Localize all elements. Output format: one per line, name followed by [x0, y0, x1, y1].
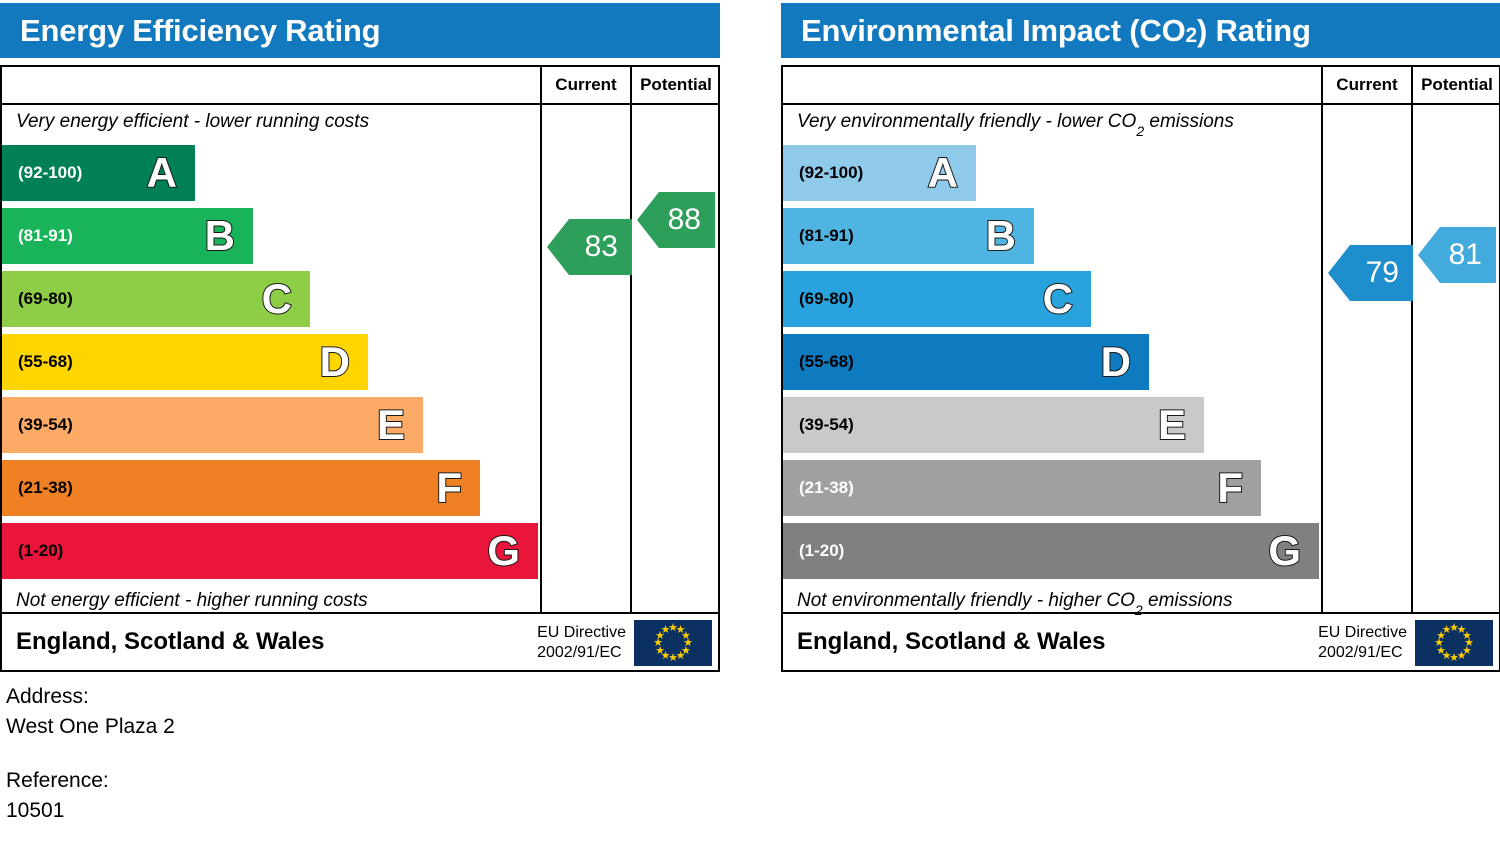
note-text: Not environmentally friendly - higher CO	[797, 590, 1135, 611]
band-letter-B: B	[205, 215, 235, 257]
co2-subscript: 2	[1136, 123, 1144, 139]
band-letter-F: F	[436, 467, 462, 509]
note-not-efficient: Not environmentally friendly - higher CO…	[797, 590, 1232, 614]
eu-directive-line1: EU Directive	[1318, 623, 1407, 643]
band-letter-C: C	[1043, 278, 1073, 320]
band-letter-G: G	[487, 530, 520, 572]
rating-bars: (92-100)A(81-91)B(69-80)C(55-68)D(39-54)…	[2, 145, 540, 589]
band-letter-B: B	[986, 215, 1016, 257]
band-range-D: (55-68)	[18, 352, 73, 372]
chart-footer: England, Scotland & WalesEU Directive200…	[783, 614, 1499, 670]
rating-band-E: (39-54)E	[2, 397, 423, 453]
column-divider-current	[1321, 67, 1323, 612]
note-text-suffix: emissions	[1144, 111, 1234, 132]
chart-title-suffix: ) Rating	[1197, 13, 1311, 49]
band-letter-A: A	[928, 152, 958, 194]
reference-label: Reference:	[6, 766, 175, 796]
eu-directive-text: EU Directive2002/91/EC	[1318, 623, 1407, 663]
band-letter-A: A	[147, 152, 177, 194]
epc-chart-energy-efficiency: Energy Efficiency RatingCurrentPotential…	[0, 0, 720, 672]
band-range-G: (1-20)	[18, 541, 63, 561]
current-rating-arrow: 79	[1328, 245, 1413, 301]
band-range-F: (21-38)	[799, 478, 854, 498]
band-range-B: (81-91)	[18, 226, 73, 246]
band-range-B: (81-91)	[799, 226, 854, 246]
eu-directive-line2: 2002/91/EC	[1318, 643, 1407, 663]
address-value: West One Plaza 2	[6, 712, 175, 742]
column-header-potential: Potential	[1413, 67, 1500, 103]
band-letter-C: C	[262, 278, 292, 320]
column-header-current: Current	[1323, 67, 1411, 103]
rating-table-environmental-impact: CurrentPotentialVery environmentally fri…	[781, 65, 1500, 672]
note-very-efficient: Very environmentally friendly - lower CO…	[797, 111, 1234, 135]
rating-band-B: (81-91)B	[2, 208, 253, 264]
rating-band-C: (69-80)C	[783, 271, 1091, 327]
eu-flag-icon	[1415, 620, 1493, 666]
rating-band-D: (55-68)D	[2, 334, 368, 390]
footer-region-label: England, Scotland & Wales	[797, 628, 1105, 656]
rating-band-B: (81-91)B	[783, 208, 1034, 264]
rating-band-G: (1-20)G	[2, 523, 538, 579]
eu-directive-text: EU Directive2002/91/EC	[537, 623, 626, 663]
column-divider-potential	[630, 67, 632, 612]
band-letter-D: D	[320, 341, 350, 383]
note-text-suffix: emissions	[1143, 590, 1233, 611]
chart-title-energy-efficiency: Energy Efficiency Rating	[0, 3, 720, 58]
band-range-E: (39-54)	[799, 415, 854, 435]
current-rating-arrow: 83	[547, 219, 632, 275]
chart-title-text: Energy Efficiency Rating	[20, 13, 380, 49]
band-range-G: (1-20)	[799, 541, 844, 561]
band-range-C: (69-80)	[18, 289, 73, 309]
column-header-current: Current	[542, 67, 630, 103]
potential-rating-arrow: 81	[1418, 227, 1496, 283]
band-range-D: (55-68)	[799, 352, 854, 372]
chart-title-text: Environmental Impact (CO	[801, 13, 1186, 49]
band-letter-E: E	[1158, 404, 1186, 446]
rating-band-F: (21-38)F	[2, 460, 480, 516]
column-divider-current	[540, 67, 542, 612]
note-very-efficient: Very energy efficient - lower running co…	[16, 111, 369, 133]
eu-directive-line1: EU Directive	[537, 623, 626, 643]
column-header-potential: Potential	[632, 67, 720, 103]
eu-flag-icon	[634, 620, 712, 666]
band-range-E: (39-54)	[18, 415, 73, 435]
co2-subscript: 2	[1186, 24, 1197, 48]
rating-band-G: (1-20)G	[783, 523, 1319, 579]
rating-band-C: (69-80)C	[2, 271, 310, 327]
note-text: Very environmentally friendly - lower CO	[797, 111, 1136, 132]
band-range-F: (21-38)	[18, 478, 73, 498]
rating-band-A: (92-100)A	[783, 145, 976, 201]
eu-directive-block: EU Directive2002/91/EC	[537, 620, 712, 666]
rating-band-A: (92-100)A	[2, 145, 195, 201]
rating-band-F: (21-38)F	[783, 460, 1261, 516]
band-letter-D: D	[1101, 341, 1131, 383]
note-not-efficient: Not energy efficient - higher running co…	[16, 590, 368, 612]
band-letter-G: G	[1268, 530, 1301, 572]
epc-chart-page: Energy Efficiency RatingCurrentPotential…	[0, 0, 1500, 845]
rating-band-D: (55-68)D	[783, 334, 1149, 390]
eu-directive-line2: 2002/91/EC	[537, 643, 626, 663]
reference-value: 10501	[6, 796, 175, 826]
chart-footer: England, Scotland & WalesEU Directive200…	[2, 614, 718, 670]
rating-table-energy-efficiency: CurrentPotentialVery energy efficient - …	[0, 65, 720, 672]
address-label: Address:	[6, 682, 175, 712]
column-divider-potential	[1411, 67, 1413, 612]
rating-bars: (92-100)A(81-91)B(69-80)C(55-68)D(39-54)…	[783, 145, 1321, 589]
footer-region-label: England, Scotland & Wales	[16, 628, 324, 656]
band-letter-E: E	[377, 404, 405, 446]
eu-directive-block: EU Directive2002/91/EC	[1318, 620, 1493, 666]
band-letter-F: F	[1217, 467, 1243, 509]
rating-band-E: (39-54)E	[783, 397, 1204, 453]
epc-chart-environmental-impact: Environmental Impact (CO2) RatingCurrent…	[781, 0, 1500, 672]
address-block: Address:West One Plaza 2Reference:10501	[6, 682, 175, 826]
band-range-A: (92-100)	[18, 163, 82, 183]
band-range-C: (69-80)	[799, 289, 854, 309]
potential-rating-arrow: 88	[637, 192, 715, 248]
chart-title-environmental-impact: Environmental Impact (CO2) Rating	[781, 3, 1500, 58]
band-range-A: (92-100)	[799, 163, 863, 183]
address-spacer	[6, 742, 175, 766]
